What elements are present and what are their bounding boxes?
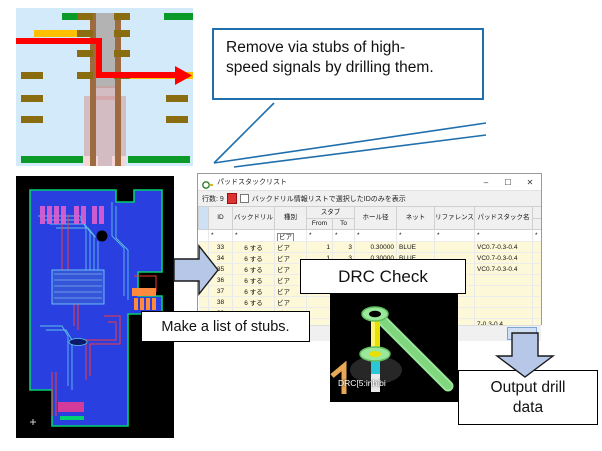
col-header-kind[interactable]: 種別	[275, 207, 307, 230]
col-header-padstack[interactable]: パッドスタック名	[475, 207, 533, 230]
output-drill-label-box: Output drill data	[458, 370, 598, 425]
flow-arrow-right	[173, 243, 219, 297]
table-row: 336 するビア130.30000BLUEVC0.7-0.3-0.464.200…	[199, 242, 542, 253]
cell-padstack: 7-0.3-0.4	[475, 319, 533, 326]
cell-backdrill: 6 する	[233, 286, 275, 297]
filter-checkbox[interactable]	[240, 194, 249, 203]
cell-padstack: VC0.7-0.3-0.4	[475, 253, 533, 264]
filter-select-cell[interactable]	[199, 230, 209, 242]
cell-kind: ビア	[275, 297, 307, 308]
window-title: パッドスタックリスト	[217, 177, 287, 187]
filter-cell-hole[interactable]: *	[355, 230, 397, 242]
filter-cell-from[interactable]: *	[307, 230, 333, 242]
select-all-header[interactable]	[199, 207, 209, 230]
filter-cell-x[interactable]: *	[533, 230, 542, 242]
cell-from	[307, 319, 333, 326]
filter-cell-id[interactable]: *	[209, 230, 233, 242]
flow-arrow-down	[494, 332, 556, 378]
drc-check-label-box: DRC Check	[300, 259, 466, 294]
cell-backdrill: 6 する	[233, 242, 275, 253]
filter-cell-reference[interactable]: *	[435, 230, 475, 242]
cell-x: 64.20000	[533, 242, 542, 253]
col-header-id[interactable]: ID	[209, 207, 233, 230]
cell-backdrill: 6 する	[233, 264, 275, 275]
cell-from	[307, 308, 333, 319]
cell-padstack	[475, 297, 533, 308]
cell-from: 1	[307, 242, 333, 253]
cell-backdrill: 6 する	[233, 253, 275, 264]
make-list-text: Make a list of stubs.	[161, 319, 289, 335]
cell-padstack	[475, 286, 533, 297]
make-list-label-box: Make a list of stubs.	[141, 311, 310, 342]
col-header-net[interactable]: ネット	[397, 207, 435, 230]
minimize-button[interactable]: –	[475, 175, 497, 190]
cell-x: 70.36500	[533, 319, 542, 326]
cell-reference	[435, 242, 475, 253]
col-header-hole[interactable]: ホール径	[355, 207, 397, 230]
cell-hole: 0.30000	[355, 242, 397, 253]
cell-x: 64.20000	[533, 264, 542, 275]
cell-x: 40.40000	[533, 297, 542, 308]
filter-cell-to[interactable]: *	[333, 230, 355, 242]
col-header-to[interactable]: To	[333, 219, 355, 230]
cell-padstack: VC0.7-0.3-0.4	[475, 264, 533, 275]
callout-leader-lines	[196, 95, 496, 175]
cell-padstack	[475, 275, 533, 286]
cell-id: 38	[209, 297, 233, 308]
window-titlebar[interactable]: パッドスタックリスト – ☐ ✕	[198, 174, 541, 191]
row-select-cell[interactable]	[199, 297, 209, 308]
table-header-group-row: ID バックドリル 種別 スタブ ホール径 ネット リファレンス パッドスタック…	[199, 207, 542, 219]
col-header-backdrill[interactable]: バックドリル	[233, 207, 275, 230]
filter-cell-backdrill[interactable]: *	[233, 230, 275, 242]
cell-backdrill: 6 する	[233, 275, 275, 286]
maximize-button[interactable]: ☐	[497, 175, 519, 190]
col-header-x[interactable]: X	[533, 219, 542, 230]
cell-to: 3	[333, 242, 355, 253]
cell-padstack	[475, 308, 533, 319]
cell-x: 37.20000	[533, 275, 542, 286]
col-header-from[interactable]: From	[307, 219, 333, 230]
col-header-reference[interactable]: リファレンス	[435, 207, 475, 230]
row-count-label: 行数: 9	[202, 194, 224, 204]
cell-kind: ビア	[275, 242, 307, 253]
cell-backdrill: 6 する	[233, 297, 275, 308]
callout-line-2: speed signals by drilling them.	[226, 58, 472, 78]
output-drill-line-2: data	[513, 399, 543, 416]
close-button[interactable]: ✕	[519, 175, 541, 190]
filter-cell-net[interactable]: *	[397, 230, 435, 242]
pcb-via-cross-section	[16, 8, 193, 166]
col-group-header-stub: スタブ	[307, 207, 355, 219]
drc-check-text: DRC Check	[338, 267, 428, 287]
padstack-icon	[202, 177, 214, 187]
drc-label: DRC[5:inhibi	[338, 378, 386, 388]
drc-3d-viewport[interactable]: DRC[5:inhibi	[330, 290, 458, 402]
cell-x: 64.20000	[533, 286, 542, 297]
cell-x: 35.60823	[533, 253, 542, 264]
cell-from	[307, 297, 333, 308]
filter-checkbox-label[interactable]: バックドリル情報リストで選択したIDのみを表示	[252, 194, 406, 204]
cell-x: 70.36500	[533, 308, 542, 319]
filter-cell-padstack[interactable]: *	[475, 230, 533, 242]
cell-padstack: VC0.7-0.3-0.4	[475, 242, 533, 253]
backdrill-icon[interactable]	[227, 193, 237, 204]
pcb-layout-preview	[16, 176, 174, 438]
cell-net: BLUE	[397, 242, 435, 253]
callout-line-1: Remove via stubs of high-	[226, 38, 472, 58]
filter-cell-kind[interactable]: ビア	[275, 230, 307, 242]
col-group-header-coords: 座標値	[533, 207, 542, 219]
output-drill-line-1: Output drill	[491, 379, 566, 396]
callout-box-remove-stubs: Remove via stubs of high- speed signals …	[212, 28, 484, 100]
table-filter-row: **ビア********	[199, 230, 542, 242]
signal-path-arrow	[16, 8, 193, 166]
window-controls[interactable]: – ☐ ✕	[475, 175, 541, 190]
window-toolbar[interactable]: 行数: 9 バックドリル情報リストで選択したIDのみを表示	[198, 191, 541, 206]
